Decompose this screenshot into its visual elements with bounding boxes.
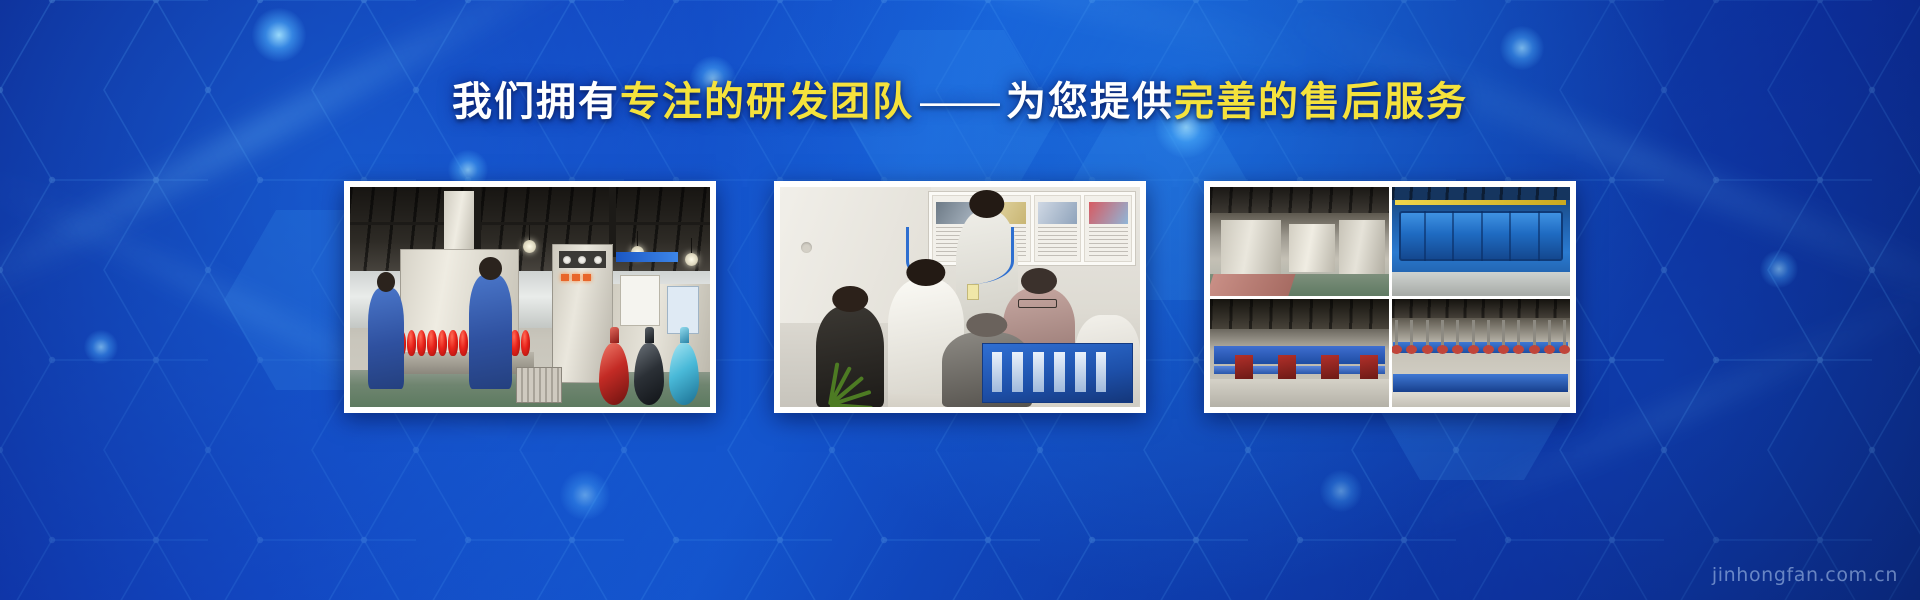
palm-plant [784,350,878,407]
board-thumbnail [1038,202,1077,224]
overhead-pipe [1395,200,1566,205]
light-streak [646,0,1333,78]
machine-segment [1033,352,1043,392]
headline-segment-highlight-2: 完善的售后服务 [1174,80,1468,124]
cyan-vase [669,327,699,405]
dark-vase [634,327,664,405]
indicator-light [583,274,591,281]
board-panel [1084,195,1132,262]
vase-neck [645,327,654,343]
ceiling-structure [1210,187,1389,213]
equipment-unit [1339,220,1385,274]
vase-body [634,343,664,405]
workshop-floor [1210,379,1389,407]
vase-body [599,343,629,405]
machine-segment [1096,352,1106,392]
board-text-lines [1089,227,1128,256]
factory-production-line-photo [350,187,710,407]
tunnel-rib [1538,211,1540,261]
machine-segment [1012,352,1022,392]
product-hanger [1410,320,1413,348]
hanger-row [1395,320,1566,348]
product-hanger [1563,320,1566,348]
machine-segment [1075,352,1085,392]
glass-vase-overlay [570,312,700,404]
product-hanger [1533,320,1536,348]
headline-dash: —— [914,80,1006,124]
product-hanger [1472,320,1475,348]
product-hanger [1456,320,1459,348]
site-watermark: jinhongfan.com.cn [1712,564,1898,586]
banner-headline: 我们拥有专注的研发团队——为您提供完善的售后服务 [0,78,1920,126]
vase-neck [610,327,619,343]
product-cart [1278,355,1296,379]
product-hanger [1441,320,1444,348]
product-hanger [1548,320,1551,348]
board-text-lines [1038,227,1077,256]
tunnel-rib [1509,211,1511,261]
factory-worker [469,275,512,389]
product-hanger [1517,320,1520,348]
vase-body [669,343,699,405]
factory-worker [368,288,404,389]
glow-node [1500,26,1544,70]
panel-workshop-collage[interactable] [1204,181,1576,413]
photo-panel-row [0,181,1920,413]
tunnel-rib [1424,211,1426,261]
tunnel-rib [1481,211,1483,261]
machine-segment [1054,352,1064,392]
promo-banner: 我们拥有专注的研发团队——为您提供完善的售后服务 [0,0,1920,600]
person-head [906,259,945,286]
workshop-floor [1392,272,1571,296]
product-hanger [1426,320,1429,348]
glow-node [252,8,306,62]
product-cart [1321,355,1339,379]
red-product [521,330,530,356]
storage-crate [516,367,563,402]
collage-cell-conveyor-line [1210,299,1389,408]
red-product [459,330,468,356]
collage-cell-hanger-line [1392,299,1571,408]
worker-head [479,257,501,280]
red-product [448,330,457,356]
control-gauges [559,251,606,269]
person-head [969,190,1004,218]
machine-model-display [982,343,1133,402]
red-vase [599,327,629,405]
machine-label [616,252,677,262]
headline-segment-plain-2: 为您提供 [1006,80,1174,124]
workshop-equipment-collage-photo [1210,187,1570,407]
panel-rnd-meeting[interactable] [774,181,1146,413]
line-frame [1393,374,1568,391]
gauge-icon [578,256,586,264]
product-cart [1360,355,1378,379]
ceiling-structure [1210,299,1389,329]
collage-cell-coating-room [1210,187,1389,296]
red-product [438,330,447,356]
board-thumbnail [1089,202,1128,224]
gauge-icon [563,256,571,264]
equipment-unit [1289,224,1335,272]
research-team-meeting-photo [780,187,1140,407]
eyeglasses-icon [1018,299,1058,308]
person-head [966,313,1007,337]
workshop-floor [1392,390,1571,407]
ceiling-structure [1392,187,1571,200]
id-badge [967,284,979,300]
red-product [407,330,416,356]
indicator-light [572,274,580,281]
person-head [832,286,868,312]
indicator-lights [561,273,604,282]
headline-segment-plain-1: 我们拥有 [452,80,620,124]
floor-marking [1210,274,1296,296]
gauge-icon [594,256,602,264]
ceiling-structure [1392,299,1571,319]
ceiling-lamp [685,253,698,266]
headline-segment-highlight-1: 专注的研发团队 [620,80,914,124]
product-hanger [1395,320,1398,348]
red-product [417,330,426,356]
glow-node [560,470,610,520]
indicator-light [561,274,569,281]
red-product [427,330,436,356]
product-hanger [1502,320,1505,348]
person-head [1021,268,1057,294]
product-cart [1235,355,1253,379]
ceiling-lamp [523,240,536,253]
worker-head [377,272,396,292]
machine-segment [992,352,1002,392]
panel-production-line[interactable] [344,181,716,413]
glow-node [1320,470,1362,512]
board-panel [1034,195,1082,262]
product-hanger [1487,320,1490,348]
collage-cell-drying-tunnel [1392,187,1571,296]
equipment-unit [1221,220,1282,274]
vase-neck [680,327,689,343]
tunnel-rib [1452,211,1454,261]
